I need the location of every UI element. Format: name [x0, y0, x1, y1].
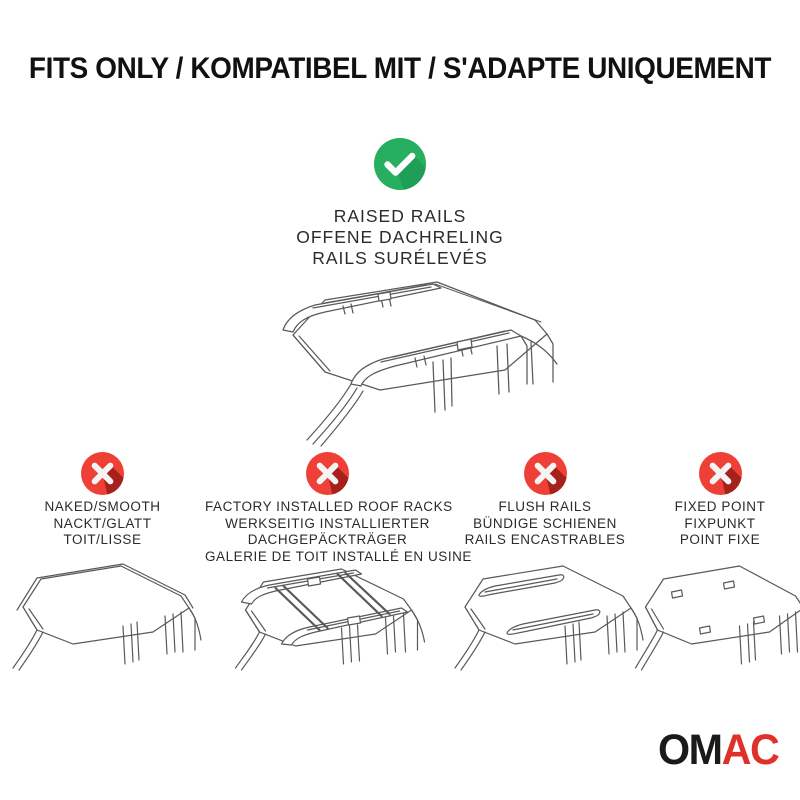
x-circle-icon: [81, 452, 124, 495]
incompatible-section: NAKED/SMOOTH NACKT/GLATT TOIT/LISSE: [0, 452, 800, 702]
car-roof-raised-rails-illustration: [175, 272, 625, 447]
x-badge-wrap: [0, 452, 205, 498]
incompatible-label-de: NACKT/GLATT: [0, 516, 205, 533]
check-circle-icon: [374, 138, 426, 190]
incompatible-item-fixed-point: FIXED POINT FIXPUNKT POINT FIXE: [640, 452, 800, 702]
incompatible-labels: NAKED/SMOOTH NACKT/GLATT TOIT/LISSE: [0, 498, 205, 549]
incompatible-labels: FLUSH RAILS BÜNDIGE SCHIENEN RAILS ENCAS…: [450, 498, 640, 549]
incompatible-item-factory-rack: FACTORY INSTALLED ROOF RACKS WERKSEITIG …: [205, 452, 450, 702]
incompatible-label-fr: TOIT/LISSE: [0, 532, 205, 549]
x-badge-wrap: [640, 452, 800, 498]
compatible-label-en: RAISED RAILS: [0, 206, 800, 227]
car-roof-flush-rails-illustration: [445, 552, 645, 672]
x-circle-icon: [524, 452, 567, 495]
incompatible-label-fr: RAILS ENCASTRABLES: [450, 532, 640, 549]
incompatible-label-en: FACTORY INSTALLED ROOF RACKS: [205, 499, 450, 516]
page-title: FITS ONLY / KOMPATIBEL MIT / S'ADAPTE UN…: [28, 52, 772, 86]
incompatible-label-de: BÜNDIGE SCHIENEN: [450, 516, 640, 533]
car-roof-factory-rack-illustration: [215, 544, 440, 672]
incompatible-label-en: FLUSH RAILS: [450, 499, 640, 516]
x-circle-icon: [306, 452, 349, 495]
logo-text-dark: OM: [658, 726, 722, 774]
omac-logo: OMAC: [658, 729, 778, 772]
compatible-labels: RAISED RAILS OFFENE DACHRELING RAILS SUR…: [0, 206, 800, 269]
compatible-label-de: OFFENE DACHRELING: [0, 227, 800, 248]
logo-text-accent: AC: [721, 726, 778, 774]
car-roof-naked-illustration: [3, 552, 203, 672]
incompatible-label-fr: POINT FIXE: [640, 532, 800, 549]
incompatible-item-naked-smooth: NAKED/SMOOTH NACKT/GLATT TOIT/LISSE: [0, 452, 205, 702]
incompatible-label-en: FIXED POINT: [640, 499, 800, 516]
incompatible-label-de: FIXPUNKT: [640, 516, 800, 533]
car-roof-fixed-point-illustration: [628, 552, 800, 672]
incompatible-label-de-1: WERKSEITIG INSTALLIERTER: [205, 516, 450, 533]
incompatible-labels: FIXED POINT FIXPUNKT POINT FIXE: [640, 498, 800, 549]
compatible-section: RAISED RAILS OFFENE DACHRELING RAILS SUR…: [0, 138, 800, 269]
x-badge-wrap: [205, 452, 450, 498]
x-circle-icon: [699, 452, 742, 495]
incompatible-label-en: NAKED/SMOOTH: [0, 499, 205, 516]
compatible-label-fr: RAILS SURÉLEVÉS: [0, 248, 800, 269]
x-badge-wrap: [450, 452, 640, 498]
incompatible-item-flush-rails: FLUSH RAILS BÜNDIGE SCHIENEN RAILS ENCAS…: [450, 452, 640, 702]
